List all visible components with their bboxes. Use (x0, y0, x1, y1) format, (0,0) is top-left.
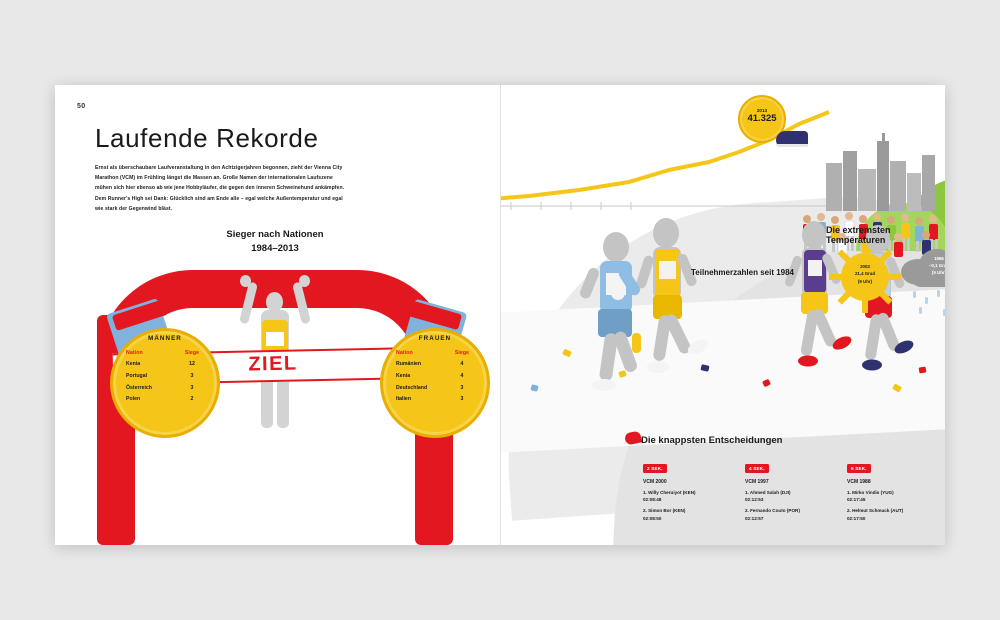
decision-place: 2. Simon Bor (KEN) (643, 507, 719, 514)
intro-paragraph: Ernst als überschaubare Laufveranstaltun… (95, 163, 345, 214)
decisions-title: Die knappsten Entscheidungen (641, 435, 782, 446)
list-item: 1. Mirko Vindis (YUG) 02:17:45 (847, 489, 923, 503)
women-wins: 4 (450, 370, 474, 382)
decision-column: 2 SEK. VCM 2000 1. Willy Cheruiyot (KEN)… (643, 457, 719, 526)
medal-2013-value: 41.325 (740, 113, 784, 124)
list-item: 2. Simon Bor (KEN) 02:08:50 (643, 507, 719, 521)
coldest-temperature-label: 1986 –0,1 Grad (9 Uhr) (901, 255, 945, 276)
men-table-title: MÄNNER (110, 335, 220, 342)
list-item: 2. Fernando Couto (POR) 02:12:57 (745, 507, 821, 521)
raindrop-icon (913, 291, 916, 298)
page-title: Laufende Rekorde (95, 123, 319, 154)
status-badge: 4 SEK. (745, 464, 769, 473)
magazine-spread: 50 Laufende Rekorde Ernst als überschaub… (55, 85, 945, 545)
decision-time: 02:12:53 (745, 496, 821, 503)
table-row: Deutschland 3 (396, 382, 474, 394)
table-row: Kenia 4 (396, 370, 474, 382)
women-nation: Deutschland (396, 382, 450, 394)
women-table-title: FRAUEN (380, 335, 490, 342)
women-wins: 3 (450, 394, 474, 406)
men-winners-table: MÄNNER Nation Siege Kenia 12 Portugal 3 … (110, 335, 220, 405)
decision-time: 02:17:50 (847, 515, 923, 522)
women-wins: 3 (450, 382, 474, 394)
table-row: Rumänien 4 (396, 358, 474, 370)
decision-place: 1. Ahmed Salah (DJI) (745, 489, 821, 496)
table-row: Italien 3 (396, 394, 474, 406)
runner-yellow (635, 218, 711, 373)
table-row: Kenia 12 (126, 358, 204, 370)
decision-time: 02:08:50 (643, 515, 719, 522)
table-row: Portugal 3 (126, 370, 204, 382)
table-row: Polen 2 (126, 394, 204, 406)
men-nation: Österreich (126, 382, 180, 394)
status-badge: 5 SEK. (847, 464, 871, 473)
city-skyline-icon (826, 133, 945, 211)
decision-race: VCM 2000 (643, 479, 719, 485)
coldest-time: (9 Uhr) (901, 269, 945, 276)
list-item: 1. Willy Cheruiyot (KEN) 02:08:48 (643, 489, 719, 503)
women-nation: Rumänien (396, 358, 450, 370)
coldest-year: 1986 (901, 255, 945, 262)
confetti (919, 366, 927, 373)
decision-column: 4 SEK. VCM 1997 1. Ahmed Salah (DJI) 02:… (745, 457, 821, 526)
hottest-temperature-label: 2003 21,4 Grad (9 Uhr) (831, 263, 899, 285)
page-number: 50 (77, 103, 86, 110)
decision-column: 5 SEK. VCM 1988 1. Mirko Vindis (YUG) 02… (847, 457, 923, 526)
status-badge: 2 SEK. (643, 464, 667, 473)
temperatures-title: Die extremsten Temperaturen (826, 225, 945, 245)
runner-blue (578, 232, 642, 391)
decision-place: 2. Fernando Couto (POR) (745, 507, 821, 514)
men-wins: 3 (180, 382, 204, 394)
women-wins: 4 (450, 358, 474, 370)
raindrop-icon (943, 309, 945, 316)
winners-banner: Sieger nach Nationen 1984–2013 (175, 228, 375, 256)
right-page: 1984 1.550 2013 41.325 Teilnehmerzahlen … (501, 85, 945, 545)
men-wins: 3 (180, 370, 204, 382)
winners-banner-line1: Sieger nach Nationen (175, 228, 375, 242)
men-nation: Polen (126, 394, 180, 406)
women-nation: Kenia (396, 370, 450, 382)
participants-chart-label: Teilnehmerzahlen seit 1984 (691, 268, 794, 277)
decisions-columns: 2 SEK. VCM 2000 1. Willy Cheruiyot (KEN)… (643, 457, 923, 526)
coldest-value: –0,1 Grad (901, 262, 945, 269)
women-winners-table: FRAUEN Nation Siege Rumänien 4 Kenia 4 D… (380, 335, 490, 405)
winners-banner-line2: 1984–2013 (175, 242, 375, 256)
women-col-wins: Siege (450, 347, 474, 358)
hottest-time: (9 Uhr) (831, 278, 899, 285)
list-item: 1. Ahmed Salah (DJI) 02:12:53 (745, 489, 821, 503)
hottest-year: 2003 (831, 263, 899, 270)
men-nation: Portugal (126, 370, 180, 382)
decision-time: 02:08:48 (643, 496, 719, 503)
men-wins: 12 (180, 358, 204, 370)
women-nation: Italien (396, 394, 450, 406)
men-wins: 2 (180, 394, 204, 406)
raindrop-icon (937, 290, 940, 297)
decision-place: 2. Helmut Schmuck (AUT) (847, 507, 923, 514)
decision-time: 02:17:45 (847, 496, 923, 503)
table-row: Österreich 3 (126, 382, 204, 394)
decision-race: VCM 1988 (847, 479, 923, 485)
page-gutter (500, 85, 501, 545)
decision-race: VCM 1997 (745, 479, 821, 485)
hottest-value: 21,4 Grad (831, 270, 899, 277)
men-col-nation: Nation (126, 347, 180, 358)
raindrop-icon (919, 307, 922, 314)
women-col-nation: Nation (396, 347, 450, 358)
men-col-wins: Siege (180, 347, 204, 358)
running-shoe-icon (776, 131, 808, 147)
men-nation: Kenia (126, 358, 180, 370)
decision-time: 02:12:57 (745, 515, 821, 522)
decision-place: 1. Mirko Vindis (YUG) (847, 489, 923, 496)
raindrop-icon (925, 297, 928, 304)
list-item: 2. Helmut Schmuck (AUT) 02:17:50 (847, 507, 923, 521)
decision-place: 1. Willy Cheruiyot (KEN) (643, 489, 719, 496)
